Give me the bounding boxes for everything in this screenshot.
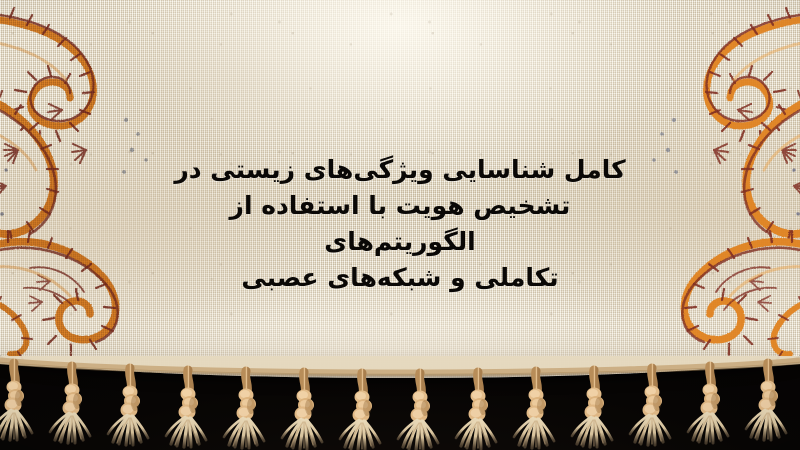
title-card: کامل شناسایی ویژگی‌های زیستی در تشخیص هو… — [0, 0, 800, 450]
tassel-fringe — [0, 356, 800, 450]
page-title: کامل شناسایی ویژگی‌های زیستی در تشخیص هو… — [150, 152, 650, 296]
